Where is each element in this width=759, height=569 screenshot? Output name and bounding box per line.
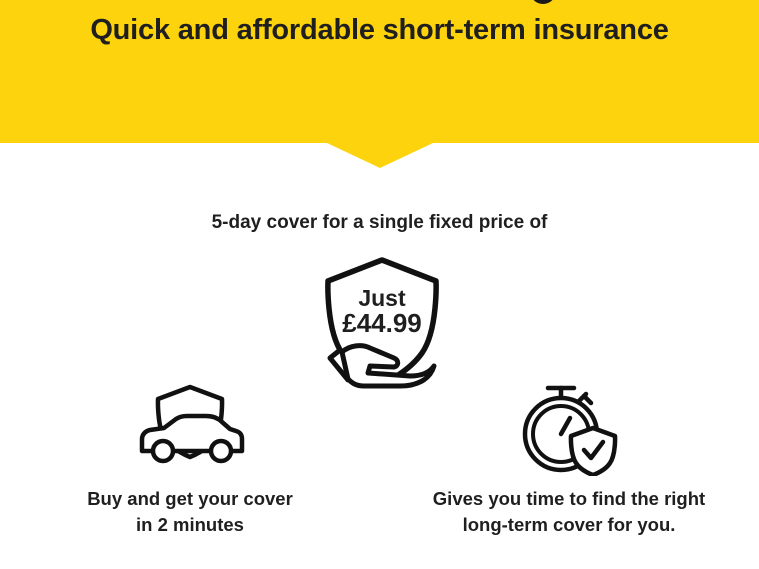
feature-caption-line-2: in 2 minutes — [20, 512, 360, 538]
car-with-shield-arrow-icon — [20, 380, 360, 472]
feature-card-buy-in-2-minutes: Buy and get your cover in 2 minutes — [20, 380, 360, 539]
price-amount-value: £44.99 — [342, 308, 422, 338]
promo-banner: Quick and affordable short-term insuranc… — [0, 0, 759, 143]
banner-pointer-notch — [327, 143, 433, 168]
cropped-headline-descender — [530, 0, 556, 4]
feature-caption: Gives you time to find the right long-te… — [399, 486, 739, 539]
banner-subtitle: Quick and affordable short-term insuranc… — [0, 14, 759, 47]
feature-caption: Buy and get your cover in 2 minutes — [20, 486, 360, 539]
stopwatch-with-check-shield-icon — [399, 380, 739, 472]
feature-caption-line-1: Buy and get your cover — [20, 486, 360, 512]
feature-card-long-term-cover: Gives you time to find the right long-te… — [399, 380, 739, 539]
price-lead-text: 5-day cover for a single fixed price of — [0, 212, 759, 234]
feature-caption-line-2: long-term cover for you. — [399, 512, 739, 538]
feature-caption-line-1: Gives you time to find the right — [399, 486, 739, 512]
shield-in-hand-icon: Just £44.99 — [312, 252, 452, 392]
